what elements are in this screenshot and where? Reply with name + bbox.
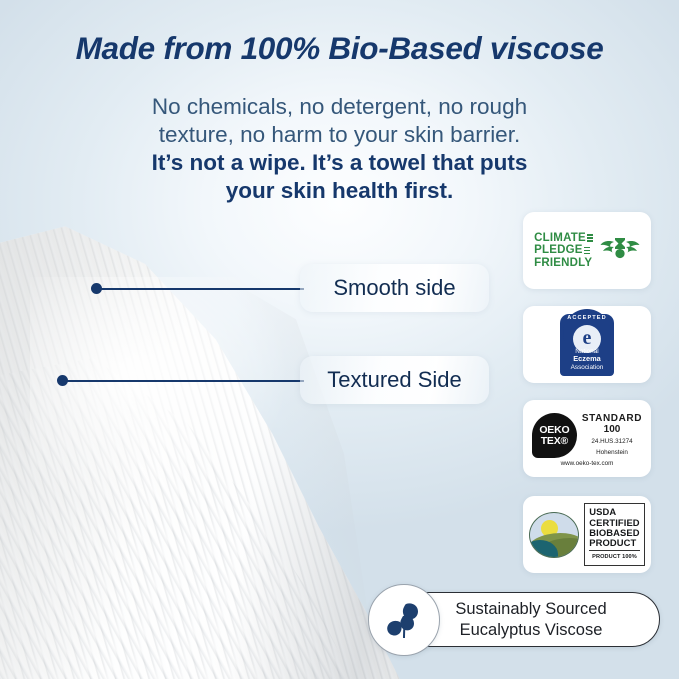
callout-smooth-side: Smooth side [300,264,489,312]
certification-card-climate-pledge-friendly: CLIMATE PLEDGE FRIENDLY [523,212,651,289]
oeko-tex-content: OEKO TEX® STANDARD 100 24.HUS.31274 Hohe… [532,410,642,467]
climate-pledge-bars-icon-2 [584,247,590,255]
leader-line-textured-side [62,380,304,382]
oeko-standard-label: STANDARD [582,413,642,424]
headline: Made from 100% Bio-Based viscose [0,30,679,67]
eczema-accepted-label: ACCEPTED [565,315,609,325]
usda-product-percentage: PRODUCT 100% [589,550,639,562]
product-infographic: Made from 100% Bio-Based viscose No chem… [0,0,679,679]
subheadline-line-2: texture, no harm to your skin barrier. [0,121,679,149]
usda-text-box: USDA CERTIFIED BIOBASED PRODUCT PRODUCT … [584,503,644,566]
oeko-tex-row: OEKO TEX® STANDARD 100 24.HUS.31274 Hohe… [532,410,642,458]
towel-highlight [30,277,290,517]
certification-card-usda-biobased: USDA CERTIFIED BIOBASED PRODUCT PRODUCT … [523,496,651,573]
leader-line-smooth-side [96,288,304,290]
eucalyptus-line-1: Sustainably Sourced [425,599,637,620]
subheadline-line-1: No chemicals, no detergent, no rough [0,93,679,121]
eucalyptus-badge-text: Sustainably Sourced Eucalyptus Viscose [425,599,637,641]
oeko-brand-line-2: TEX® [541,436,568,447]
oeko-certificate-number: 24.HUS.31274 [582,438,642,446]
oeko-standard-number: 100 [582,424,642,435]
eczema-line-3: Association [571,364,604,371]
oeko-tex-logo-icon: OEKO TEX® [532,413,577,458]
callout-smooth-side-label: Smooth side [333,275,455,301]
oeko-institute: Hohenstein [582,449,642,457]
subheadline-line-3: It’s not a wipe. It’s a towel that puts [0,149,679,177]
usda-line-4: PRODUCT [589,538,639,548]
climate-pledge-text: CLIMATE PLEDGE FRIENDLY [534,232,593,270]
callout-textured-side-label: Textured Side [327,367,462,393]
certification-card-national-eczema-association: ACCEPTED e National Eczema Association [523,306,651,383]
subheadline: No chemicals, no detergent, no rough tex… [0,93,679,205]
subheadline-line-4: your skin health first. [0,177,679,205]
climate-pledge-line-1: CLIMATE [534,232,586,245]
eczema-association-text: National Eczema Association [560,348,614,372]
eucalyptus-leaf-icon [368,584,440,656]
winged-hourglass-icon [600,233,640,268]
oeko-tex-details: STANDARD 100 24.HUS.31274 Hohenstein [582,413,642,457]
callout-textured-side: Textured Side [300,356,489,404]
climate-pledge-line-2: PLEDGE [534,244,583,257]
certification-card-oeko-tex: OEKO TEX® STANDARD 100 24.HUS.31274 Hohe… [523,400,651,477]
climate-pledge-line-3: FRIENDLY [534,257,592,270]
usda-landscape-icon [529,512,579,558]
oeko-website-url: www.oeko-tex.com [561,460,614,467]
usda-content: USDA CERTIFIED BIOBASED PRODUCT PRODUCT … [529,503,644,566]
eczema-line-2: Eczema [573,354,601,363]
climate-pledge-bars-icon [587,234,593,242]
climate-pledge-content: CLIMATE PLEDGE FRIENDLY [534,232,640,270]
eucalyptus-line-2: Eucalyptus Viscose [425,620,637,641]
oeko-brand-line-1: OEKO [539,425,569,436]
eczema-seal-shield: ACCEPTED e National Eczema Association [560,314,614,376]
